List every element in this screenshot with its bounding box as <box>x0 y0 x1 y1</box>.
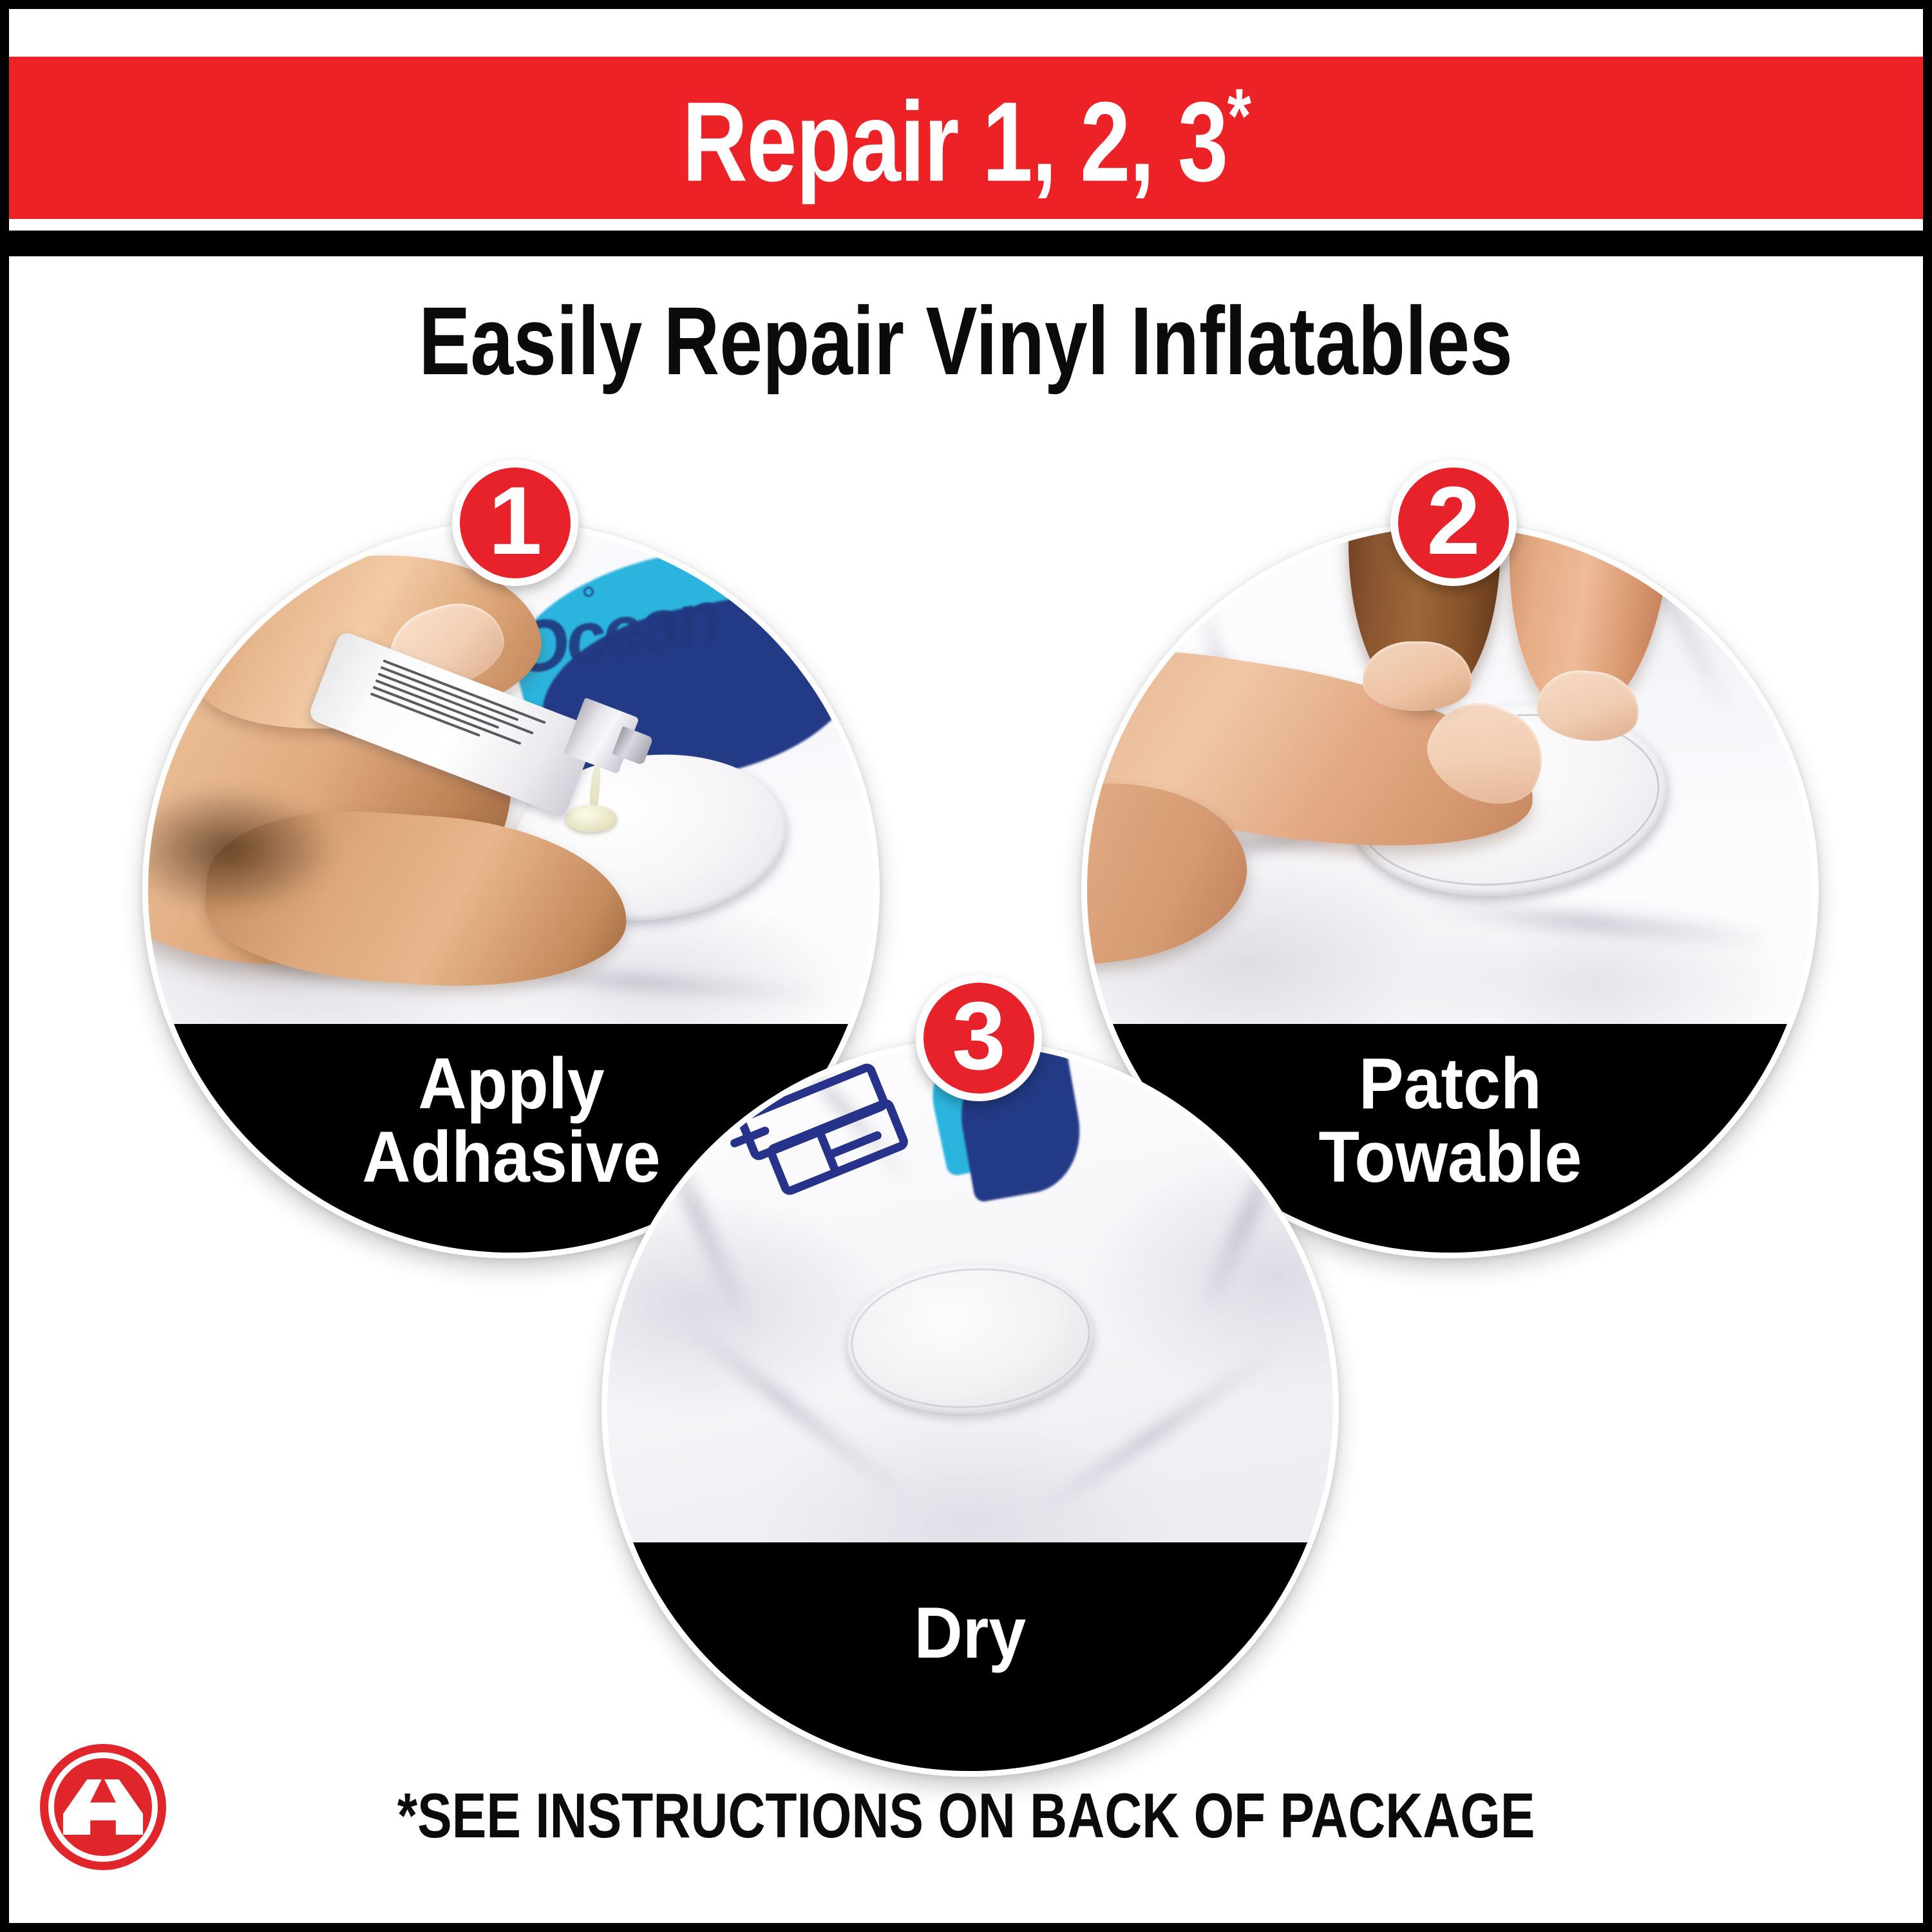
subtitle-row: Easily Repair Vinyl Inflatables <box>9 292 1923 389</box>
step-badge-2-number: 2 <box>1426 472 1480 569</box>
step-badge-1: 1 <box>452 460 578 586</box>
step-3-caption-band: Dry <box>607 1542 1333 1771</box>
page-title-asterisk: * <box>1227 73 1250 159</box>
product-infographic-page: Repair 1, 2, 3* Easily Repair Vinyl Infl… <box>0 0 1932 1932</box>
step-card-3: Dry <box>601 1039 1339 1777</box>
page-title: Repair 1, 2, 3* <box>682 77 1250 199</box>
step-2-photo <box>1087 527 1813 1024</box>
adhesive-drop <box>565 805 617 832</box>
subtitle-text: Easily Repair Vinyl Inflatables <box>419 292 1513 389</box>
registered-mark-icon <box>583 587 594 597</box>
footer-note-text: *SEE INSTRUCTIONS ON BACK OF PACKAGE <box>397 1784 1535 1847</box>
header-divider-rule <box>9 231 1923 256</box>
step-badge-2: 2 <box>1390 460 1517 586</box>
step-3-caption: Dry <box>914 1596 1027 1670</box>
step-3-photo <box>607 1045 1333 1542</box>
page-title-text: Repair 1, 2, 3 <box>682 79 1227 205</box>
middle-fingernail <box>1363 641 1472 711</box>
step-1-photo: Ocean <box>148 527 874 1024</box>
header-banner: Repair 1, 2, 3* <box>9 57 1923 219</box>
step-badge-3-number: 3 <box>952 987 1005 1084</box>
step-2-caption: Patch Towable <box>1318 1047 1582 1194</box>
footer-note-row: *SEE INSTRUCTIONS ON BACK OF PACKAGE <box>9 1784 1923 1847</box>
step-badge-1-number: 1 <box>488 472 542 569</box>
step-badge-3: 3 <box>916 975 1042 1101</box>
